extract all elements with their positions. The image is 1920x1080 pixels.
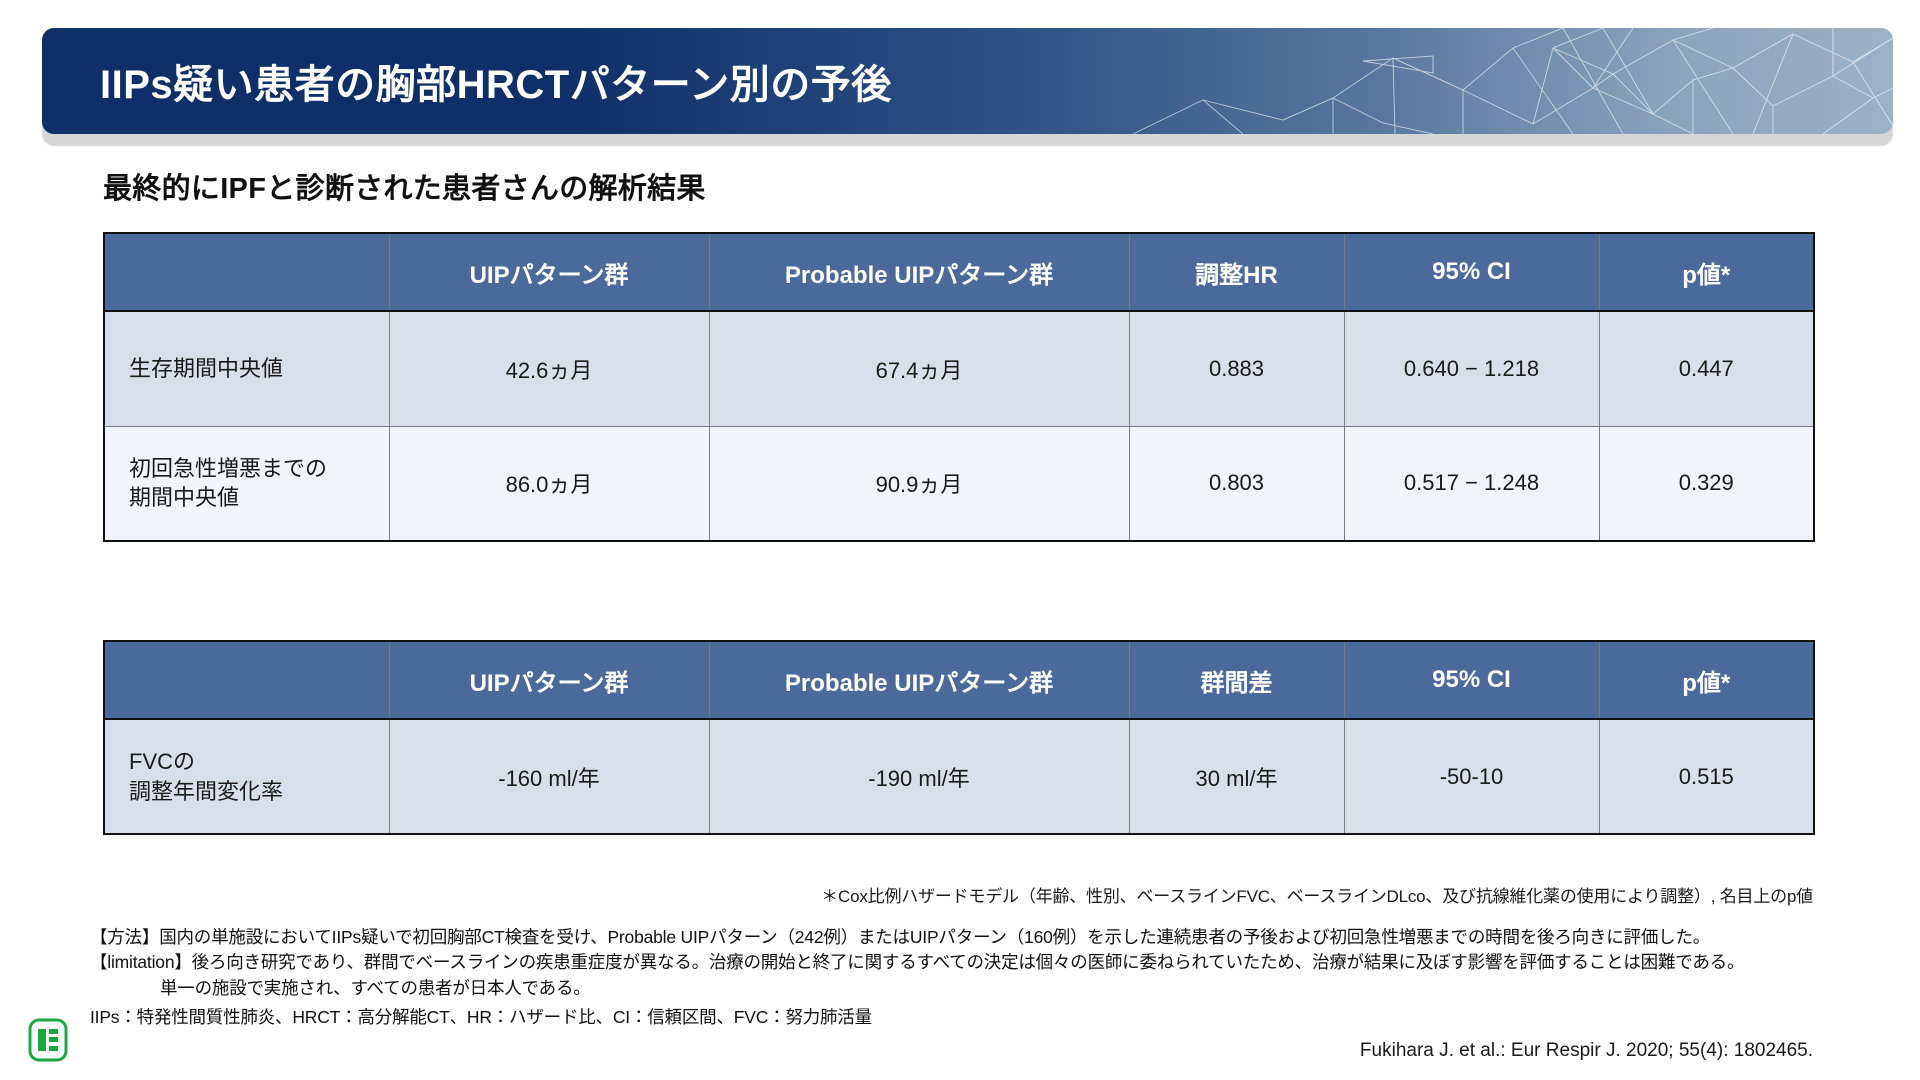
row-label-line1: 初回急性増悪までの [129,456,327,481]
row-label: 生存期間中央値 [104,311,389,426]
note-limitation: 【limitation】後ろ向き研究であり、群間でベースラインの疾患重症度が異な… [90,950,1744,975]
row-label-line2: 期間中央値 [129,485,239,510]
cell-probable: 90.9ヵ月 [709,426,1129,541]
header-banner-wrap: IIPs疑い患者の胸部HRCTパターン別の予後 [42,28,1893,138]
table2-col-uip: UIPパターン群 [389,641,709,719]
page-title: IIPs疑い患者の胸部HRCTパターン別の予後 [100,28,892,134]
table1-col-probable: Probable UIPパターン群 [709,233,1129,311]
citation: Fukihara J. et al.: Eur Respir J. 2020; … [1360,1040,1813,1062]
table1-col-pvalue: p値* [1599,233,1814,311]
cell-pvalue: 0.329 [1599,426,1814,541]
subtitle: 最終的にIPFと診断された患者さんの解析結果 [103,165,706,207]
cell-diff: 30 ml/年 [1129,719,1344,834]
table1-col-hr: 調整HR [1129,233,1344,311]
cell-pvalue: 0.447 [1599,311,1814,426]
cell-ci: 0.640 − 1.218 [1344,311,1599,426]
table1-col-ci: 95% CI [1344,233,1599,311]
fvc-table: UIPパターン群 Probable UIPパターン群 群間差 95% CI p値… [103,640,1815,835]
row-label-line1: FVCの [129,749,195,774]
cell-uip: 86.0ヵ月 [389,426,709,541]
note-limitation-cont: 単一の施設で実施され、すべての患者が日本人である。 [90,976,1744,1001]
table-row: 生存期間中央値 42.6ヵ月 67.4ヵ月 0.883 0.640 − 1.21… [104,311,1814,426]
footnote-asterisk: ＊Cox比例ハザードモデル（年齢、性別、ベースラインFVC、ベースラインDLco… [821,882,1813,907]
row-label: 初回急性増悪までの 期間中央値 [104,426,389,541]
row-label-line1: 生存期間中央値 [129,356,283,381]
slide-root: IIPs疑い患者の胸部HRCTパターン別の予後 最終的にIPFと診断された患者さ… [0,0,1920,1080]
table2-col-0 [104,641,389,719]
row-label: FVCの 調整年間変化率 [104,719,389,834]
cell-ci: -50-10 [1344,719,1599,834]
table2-col-ci: 95% CI [1344,641,1599,719]
cell-pvalue: 0.515 [1599,719,1814,834]
table-row: FVCの 調整年間変化率 -160 ml/年 -190 ml/年 30 ml/年… [104,719,1814,834]
table2-col-diff: 群間差 [1129,641,1344,719]
table-row: 初回急性増悪までの 期間中央値 86.0ヵ月 90.9ヵ月 0.803 0.51… [104,426,1814,541]
cell-ci: 0.517 − 1.248 [1344,426,1599,541]
header-banner: IIPs疑い患者の胸部HRCTパターン別の予後 [42,28,1893,134]
table1-col-uip: UIPパターン群 [389,233,709,311]
company-logo-icon [28,1018,68,1062]
table2-col-pvalue: p値* [1599,641,1814,719]
network-mesh-decoration [1133,28,1893,134]
prognosis-table: UIPパターン群 Probable UIPパターン群 調整HR 95% CI p… [103,232,1815,542]
study-notes: 【方法】国内の単施設においてIIPs疑いで初回胸部CT検査を受け、Probabl… [90,925,1744,1001]
table-header-row: UIPパターン群 Probable UIPパターン群 群間差 95% CI p値… [104,641,1814,719]
abbreviations: IIPs：特発性間質性肺炎、HRCT：高分解能CT、HR：ハザード比、CI：信頼… [90,1004,872,1029]
note-method: 【方法】国内の単施設においてIIPs疑いで初回胸部CT検査を受け、Probabl… [90,925,1744,950]
cell-uip: -160 ml/年 [389,719,709,834]
cell-probable: 67.4ヵ月 [709,311,1129,426]
table2-col-probable: Probable UIPパターン群 [709,641,1129,719]
table-header-row: UIPパターン群 Probable UIPパターン群 調整HR 95% CI p… [104,233,1814,311]
cell-uip: 42.6ヵ月 [389,311,709,426]
table1-col-0 [104,233,389,311]
row-label-line2: 調整年間変化率 [129,779,283,804]
cell-hr: 0.803 [1129,426,1344,541]
cell-probable: -190 ml/年 [709,719,1129,834]
cell-hr: 0.883 [1129,311,1344,426]
